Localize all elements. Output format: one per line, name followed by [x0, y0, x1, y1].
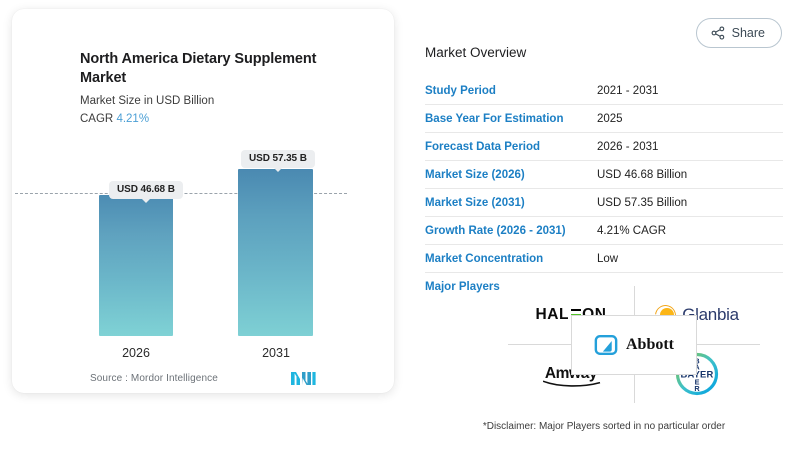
share-icon	[711, 26, 725, 40]
row-label-study-period[interactable]: Study Period	[425, 77, 597, 105]
svg-text:R: R	[694, 384, 700, 393]
abbott-logo: Abbott	[594, 333, 674, 357]
row-label-growth-rate[interactable]: Growth Rate (2026 - 2031)	[425, 217, 597, 245]
mordor-intelligence-logo	[290, 371, 316, 386]
row-value-growth-rate: 4.21% CAGR	[597, 217, 783, 245]
table-row: Study Period 2021 - 2031	[425, 77, 783, 105]
share-button-label: Share	[732, 26, 765, 40]
bar-chart-plot: USD 46.68 B USD 57.35 B 2026 2031	[12, 9, 394, 393]
table-row: Base Year For Estimation 2025	[425, 105, 783, 133]
player-cell-abbott[interactable]: Abbott	[571, 315, 697, 375]
players-disclaimer: *Disclaimer: Major Players sorted in no …	[424, 421, 784, 432]
bar-2026[interactable]	[99, 195, 173, 336]
bar-2031[interactable]	[238, 169, 313, 336]
table-row: Market Concentration Low	[425, 245, 783, 273]
market-overview-title: Market Overview	[425, 45, 783, 60]
amway-swoosh-icon	[543, 380, 601, 387]
table-row: Market Size (2031) USD 57.35 Billion	[425, 189, 783, 217]
chart-card: North America Dietary Supplement Market …	[12, 9, 394, 393]
bar-label-2031: USD 57.35 B	[241, 150, 315, 168]
market-overview-panel: Market Overview Study Period 2021 - 2031…	[425, 45, 783, 300]
row-value-market-size-2026: USD 46.68 Billion	[597, 161, 783, 189]
row-value-base-year: 2025	[597, 105, 783, 133]
table-row: Forecast Data Period 2026 - 2031	[425, 133, 783, 161]
row-value-study-period: 2021 - 2031	[597, 77, 783, 105]
abbott-wordmark: Abbott	[626, 336, 674, 354]
row-label-market-concentration[interactable]: Market Concentration	[425, 245, 597, 273]
row-label-market-size-2026[interactable]: Market Size (2026)	[425, 161, 597, 189]
row-label-market-size-2031[interactable]: Market Size (2031)	[425, 189, 597, 217]
market-overview-table: Study Period 2021 - 2031 Base Year For E…	[425, 77, 783, 300]
row-value-market-size-2031: USD 57.35 Billion	[597, 189, 783, 217]
chart-source: Source : Mordor Intelligence	[90, 373, 218, 384]
row-label-base-year[interactable]: Base Year For Estimation	[425, 105, 597, 133]
row-label-forecast-period[interactable]: Forecast Data Period	[425, 133, 597, 161]
major-players-grid: HAL ON Glanbia Amway	[508, 286, 760, 403]
abbott-mark-icon	[594, 333, 618, 357]
x-axis-tick-2031: 2031	[236, 346, 316, 360]
table-row: Market Size (2026) USD 46.68 Billion	[425, 161, 783, 189]
market-report-card: North America Dietary Supplement Market …	[0, 0, 800, 459]
table-row: Growth Rate (2026 - 2031) 4.21% CAGR	[425, 217, 783, 245]
row-value-forecast-period: 2026 - 2031	[597, 133, 783, 161]
row-value-market-concentration: Low	[597, 245, 783, 273]
bar-label-2026: USD 46.68 B	[109, 181, 183, 199]
share-button[interactable]: Share	[696, 18, 782, 48]
x-axis-tick-2026: 2026	[96, 346, 176, 360]
